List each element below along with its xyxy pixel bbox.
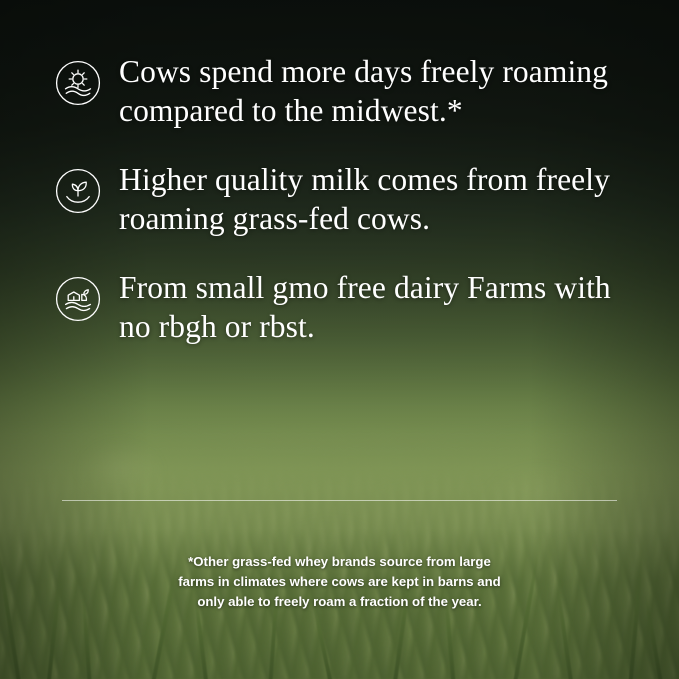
poster-content: Cows spend more days freely roaming comp…	[0, 0, 679, 679]
footnote-line-2: farms in climates where cows are kept in…	[110, 572, 569, 592]
benefits-poster: Cows spend more days freely roaming comp…	[0, 0, 679, 679]
list-item: Cows spend more days freely roaming comp…	[55, 52, 635, 130]
footnote-line-3: only able to freely roam a fraction of t…	[110, 592, 569, 612]
footnote: *Other grass-fed whey brands source from…	[110, 552, 569, 612]
list-item: Higher quality milk comes from freely ro…	[55, 160, 635, 238]
farm-barn-field-icon	[55, 276, 101, 322]
benefit-text: Cows spend more days freely roaming comp…	[119, 52, 635, 130]
footnote-line-1: *Other grass-fed whey brands source from…	[110, 552, 569, 572]
list-item: From small gmo free dairy Farms with no …	[55, 268, 635, 346]
benefit-text: From small gmo free dairy Farms with no …	[119, 268, 635, 346]
benefit-list: Cows spend more days freely roaming comp…	[55, 52, 635, 346]
divider	[62, 500, 617, 501]
sun-over-field-icon	[55, 60, 101, 106]
hand-holding-leaf-icon	[55, 168, 101, 214]
benefit-text: Higher quality milk comes from freely ro…	[119, 160, 635, 238]
